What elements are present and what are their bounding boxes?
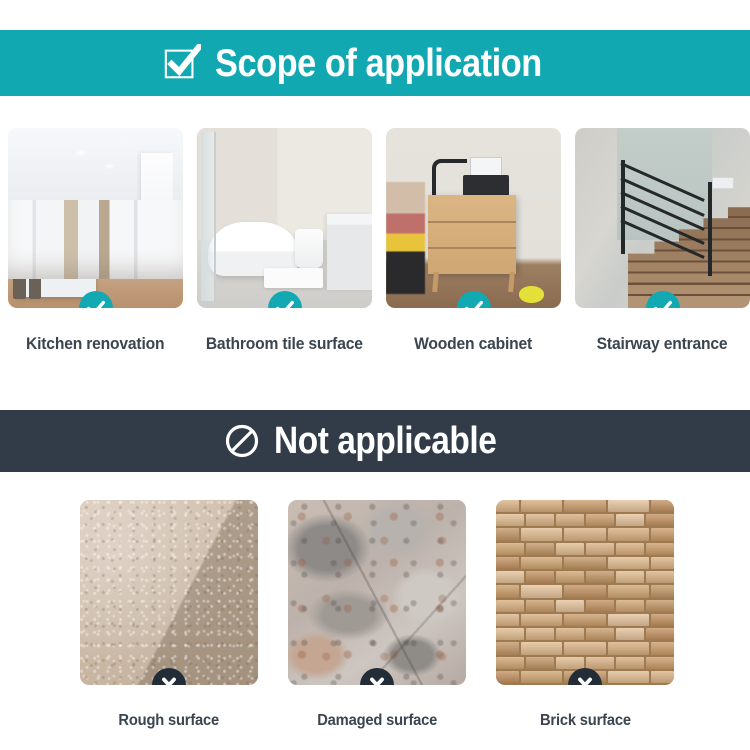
scope-item-label: Kitchen renovation [26,334,164,354]
not-applicable-item-label: Brick surface [540,712,631,730]
scope-item-label: Stairway entrance [597,334,728,354]
not-applicable-item-rough-surface: Rough surface [80,500,258,730]
cabinet-leg [432,272,439,292]
scope-item-bathroom-tile-surface: Bathroom tile surface [197,128,372,356]
check-icon [463,297,485,308]
floor-object [519,286,544,302]
check-icon [652,297,674,308]
prohibition-icon [224,423,260,459]
scope-items-row: Kitchen renovation Bathroom tile surface [8,128,742,356]
scope-item-label: Wooden cabinet [415,334,533,354]
not-applicable-banner: Not applicable [0,410,750,472]
bath-mat [264,268,324,288]
kitchen-stool [13,268,25,299]
not-applicable-item-brick-surface: Brick surface [496,500,674,730]
toilet [295,229,323,269]
stairway-photo [575,128,750,308]
scope-item-stairway-entrance: Stairway entrance [575,128,750,356]
kitchen-stool [29,268,41,299]
not-applicable-item-label: Damaged surface [317,712,437,730]
brick-wall-photo [496,500,674,685]
not-applicable-banner-title: Not applicable [274,422,496,460]
desk-lamp [432,159,467,199]
x-icon [366,674,388,685]
stair-railing [621,160,712,261]
cabinet-leg [508,272,515,292]
not-applicable-items-row: Rough surface Damaged surface [80,500,672,730]
bathroom-photo [197,128,372,308]
wooden-dresser [428,195,516,274]
railing-post [708,182,712,276]
kitchen-island [15,243,96,297]
cross-badge [152,668,186,685]
check-badge [268,291,302,308]
check-badge [457,291,491,308]
checkbox-check-icon [163,44,201,82]
black-tray [463,175,509,197]
x-icon [158,674,180,685]
scope-item-kitchen-renovation: Kitchen renovation [8,128,183,356]
damaged-peeling-paint-photo [288,500,466,685]
x-icon [574,674,596,685]
check-icon [85,297,107,308]
bathroom-vanity [327,214,373,290]
cross-badge [360,668,394,685]
check-icon [274,297,296,308]
scope-item-wooden-cabinet: Wooden cabinet [386,128,561,356]
scope-of-application-banner: Scope of application [0,30,750,96]
not-applicable-item-label: Rough surface [119,712,220,730]
shower-glass-panel [201,132,217,301]
infographic-page: Scope of application Kitchen renovation [0,0,750,750]
scope-banner-title: Scope of application [215,44,542,83]
scope-item-label: Bathroom tile surface [206,334,363,354]
kitchen-plant [38,213,57,235]
wooden-cabinet-photo [386,128,561,308]
railing-post [621,160,625,254]
kitchen-cabinet-column [141,153,173,257]
kitchen-photo [8,128,183,308]
brick-pattern [496,500,674,685]
rough-stucco-photo [80,500,258,685]
light-switch [712,177,735,190]
cabinet-side-clutter [386,182,425,294]
not-applicable-item-damaged-surface: Damaged surface [288,500,466,730]
